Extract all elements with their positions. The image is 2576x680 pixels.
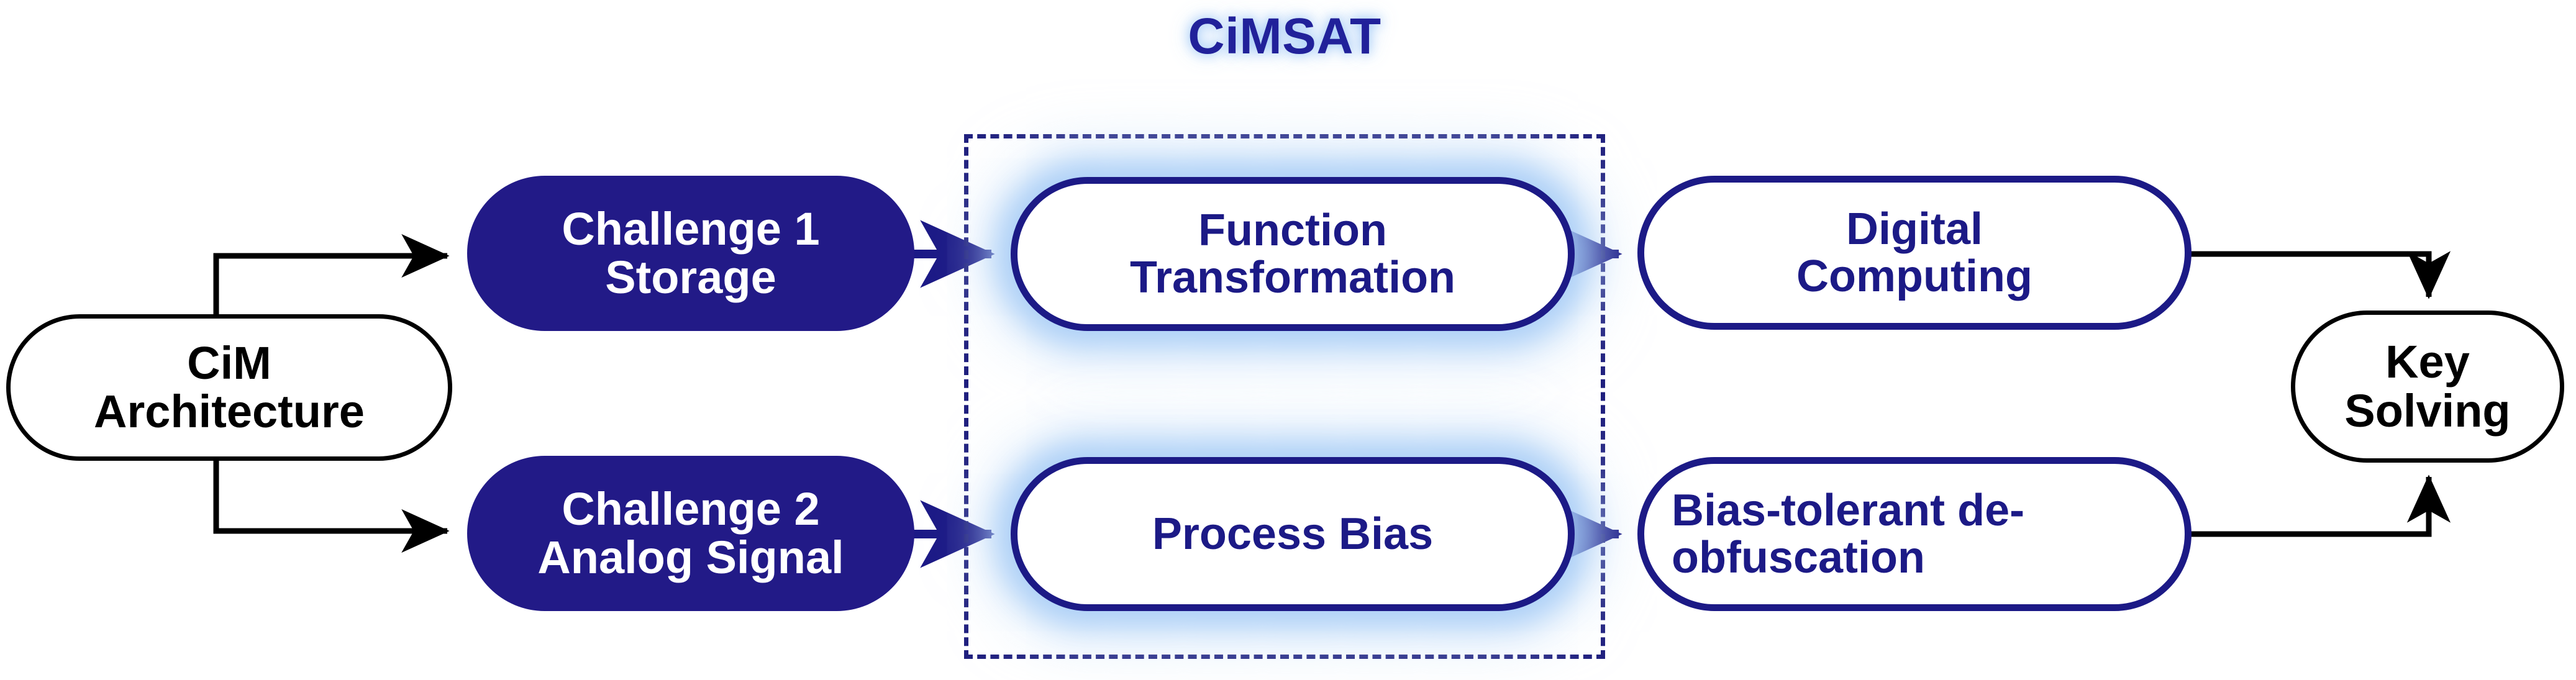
edge-bias-tolerant-to-key-solving: [2189, 477, 2429, 534]
diagram-canvas: CiMSAT CiM Architecture Challenge 1 Stor…: [0, 0, 2576, 680]
node-function-transformation[interactable]: Function Transformation: [1011, 177, 1575, 331]
node-challenge-2-analog-signal[interactable]: Challenge 2 Analog Signal: [467, 456, 914, 611]
cimsat-title: CiMSAT: [964, 7, 1605, 66]
node-bias-tolerant-deobfuscation[interactable]: Bias-tolerant de- obfuscation: [1637, 457, 2191, 611]
node-challenge-1-storage[interactable]: Challenge 1 Storage: [467, 176, 914, 331]
edge-digital-computing-to-key-solving: [2189, 254, 2429, 297]
node-key-solving[interactable]: Key Solving: [2291, 311, 2564, 463]
node-process-bias[interactable]: Process Bias: [1011, 457, 1575, 611]
node-digital-computing[interactable]: Digital Computing: [1637, 176, 2191, 330]
node-cim-architecture[interactable]: CiM Architecture: [6, 314, 452, 461]
edge-cim-to-challenge-2: [216, 461, 447, 531]
edge-cim-to-challenge-1: [216, 256, 447, 314]
